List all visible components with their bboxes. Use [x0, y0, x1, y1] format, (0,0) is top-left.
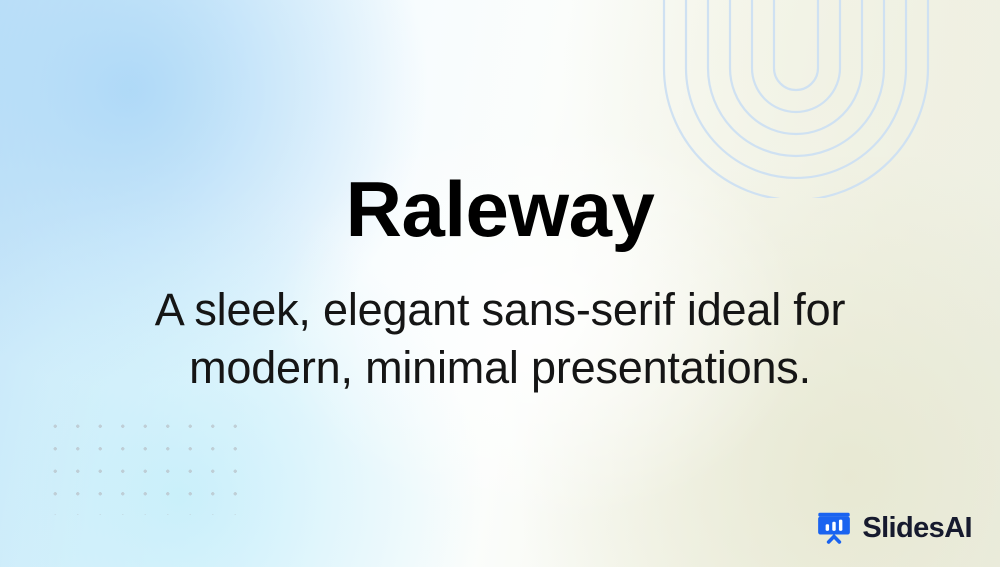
- slide-subtitle: A sleek, elegant sans-serif ideal for mo…: [100, 281, 900, 398]
- slidesai-logo: SlidesAI: [815, 509, 972, 547]
- slide-canvas: Raleway A sleek, elegant sans-serif idea…: [0, 0, 1000, 567]
- slidesai-wordmark: SlidesAI: [862, 514, 972, 543]
- slide-content: Raleway A sleek, elegant sans-serif idea…: [0, 0, 1000, 567]
- page-title: Raleway: [346, 169, 655, 251]
- presentation-board-icon: [815, 509, 853, 547]
